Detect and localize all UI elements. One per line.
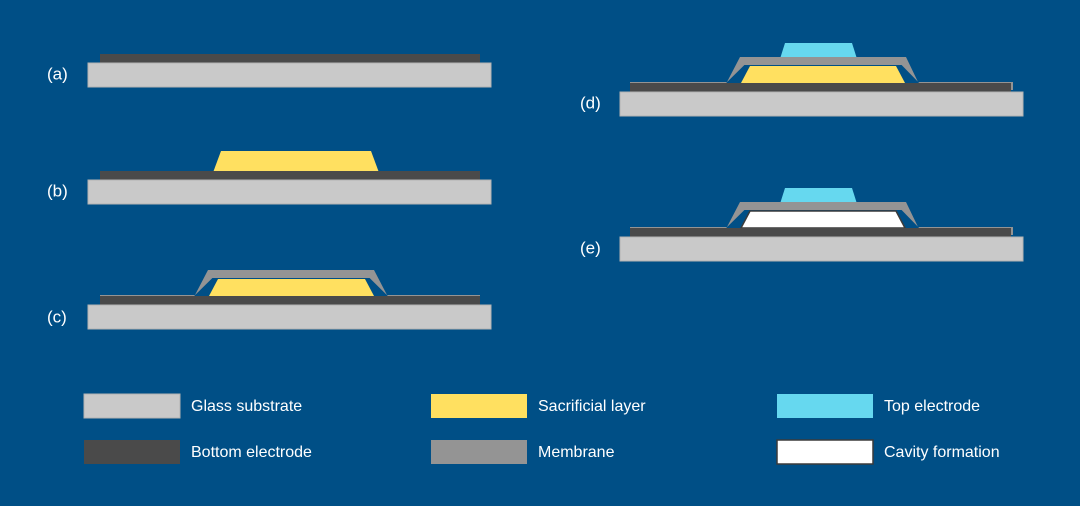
fabrication-process-diagram: (a)(b)(c)(d)(e) Glass substrateBottom el… bbox=[0, 0, 1080, 506]
legend-sacrificial-layer: Sacrificial layer bbox=[431, 394, 646, 418]
bottom-electrode bbox=[100, 171, 480, 180]
legend-glass-substrate-swatch bbox=[84, 394, 180, 418]
legend-membrane: Membrane bbox=[431, 440, 615, 464]
legend-membrane-swatch bbox=[431, 440, 527, 464]
legend-cavity-formation-label: Cavity formation bbox=[884, 444, 1000, 461]
legend-membrane-label: Membrane bbox=[538, 444, 615, 461]
panel-d-label: (d) bbox=[580, 93, 601, 112]
sacrificial-layer bbox=[741, 66, 905, 83]
legend-glass-substrate-label: Glass substrate bbox=[191, 398, 302, 415]
legend-sacrificial-layer-label: Sacrificial layer bbox=[538, 398, 646, 415]
panel-a-label: (a) bbox=[47, 64, 68, 83]
glass-substrate bbox=[88, 305, 491, 329]
glass-substrate bbox=[620, 237, 1023, 261]
bottom-electrode bbox=[630, 83, 1011, 92]
legend-bottom-electrode-label: Bottom electrode bbox=[191, 444, 312, 461]
legend-bottom-electrode-swatch bbox=[84, 440, 180, 464]
glass-substrate bbox=[88, 180, 491, 204]
panel-b-label: (b) bbox=[47, 181, 68, 200]
legend-cavity-formation: Cavity formation bbox=[777, 440, 1000, 464]
process-flow-figure: (a)(b)(c)(d)(e) Glass substrateBottom el… bbox=[0, 0, 1080, 506]
sacrificial-layer bbox=[209, 279, 374, 296]
glass-substrate bbox=[620, 92, 1023, 116]
legend-top-electrode-label: Top electrode bbox=[884, 398, 980, 415]
legend-bottom-electrode: Bottom electrode bbox=[84, 440, 312, 464]
panel-e-label: (e) bbox=[580, 238, 601, 257]
glass-substrate bbox=[88, 63, 491, 87]
legend-glass-substrate: Glass substrate bbox=[84, 394, 302, 418]
bottom-electrode bbox=[100, 54, 480, 63]
legend-top-electrode-swatch bbox=[777, 394, 873, 418]
bottom-electrode bbox=[100, 296, 480, 305]
cavity-formation bbox=[741, 211, 905, 228]
panel-a: (a) bbox=[47, 54, 491, 87]
legend-cavity-formation-swatch bbox=[777, 440, 873, 464]
panel-c-label: (c) bbox=[47, 307, 67, 326]
bottom-electrode bbox=[630, 228, 1011, 237]
legend-sacrificial-layer-swatch bbox=[431, 394, 527, 418]
